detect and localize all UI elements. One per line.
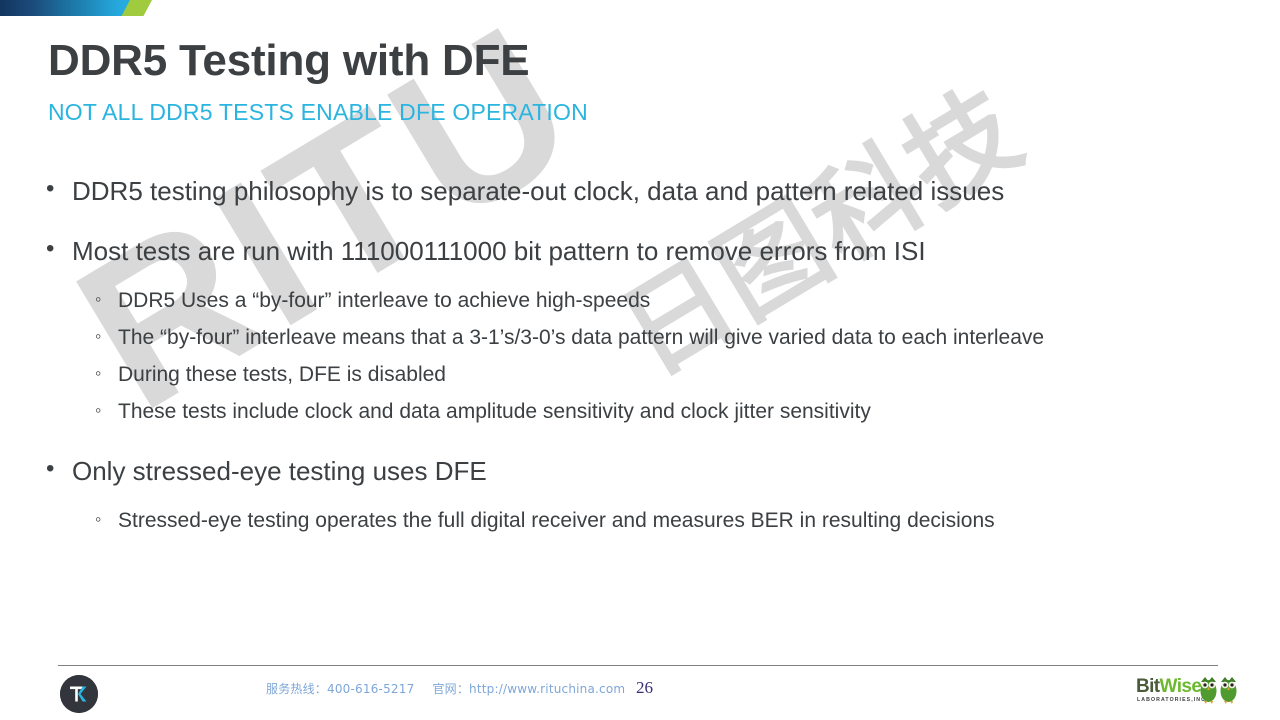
bullet-level2: Stressed-eye testing operates the full d… (40, 508, 1240, 535)
bitwise-wordmark: BitWise (1136, 677, 1201, 696)
bullet-level2: During these tests, DFE is disabled (40, 362, 1240, 389)
slide-body: DDR5 testing philosophy is to separate-o… (40, 176, 1240, 545)
owl-mascot-icon (1198, 674, 1240, 711)
sub-bullet-list: DDR5 Uses a “by-four” interleave to achi… (40, 288, 1240, 426)
footer-divider (58, 665, 1218, 666)
bitwise-name-part2: Wise (1160, 676, 1202, 697)
footer-contact-info: 服务热线：400-616-5217官网：http://www.rituchina… (266, 680, 625, 697)
website-label: 官网： (432, 682, 469, 696)
website-value[interactable]: http://www.rituchina.com (469, 682, 625, 696)
slide-title: DDR5 Testing with DFE (48, 36, 529, 86)
ritu-logo-icon (60, 675, 98, 713)
bullet-level1: Most tests are run with 111000111000 bit… (40, 236, 1240, 266)
bullet-level1: DDR5 testing philosophy is to separate-o… (40, 176, 1240, 206)
bullet-level1: Only stressed-eye testing uses DFE (40, 456, 1240, 486)
top-accent-banner (0, 0, 172, 16)
bitwise-name-part1: Bit (1136, 676, 1160, 697)
bullet-level2: These tests include clock and data ampli… (40, 399, 1240, 426)
slide-canvas: RITU 日图科技 DDR5 Testing with DFE NOT ALL … (0, 0, 1280, 720)
bitwise-logo: BitWise LABORATORIES,INC (1136, 676, 1240, 710)
hotline-label: 服务热线： (266, 682, 327, 696)
bullet-group-1: DDR5 testing philosophy is to separate-o… (40, 176, 1240, 206)
bitwise-tagline: LABORATORIES,INC (1137, 697, 1206, 703)
bullet-group-2: Most tests are run with 111000111000 bit… (40, 236, 1240, 426)
hotline-value: 400-616-5217 (327, 682, 414, 696)
sub-bullet-list: Stressed-eye testing operates the full d… (40, 508, 1240, 535)
page-number: 26 (636, 678, 653, 698)
slide-subtitle: NOT ALL DDR5 TESTS ENABLE DFE OPERATION (48, 99, 588, 126)
bullet-level2: DDR5 Uses a “by-four” interleave to achi… (40, 288, 1240, 315)
bullet-level2: The “by-four” interleave means that a 3-… (40, 325, 1240, 352)
bullet-group-3: Only stressed-eye testing uses DFE Stres… (40, 456, 1240, 535)
